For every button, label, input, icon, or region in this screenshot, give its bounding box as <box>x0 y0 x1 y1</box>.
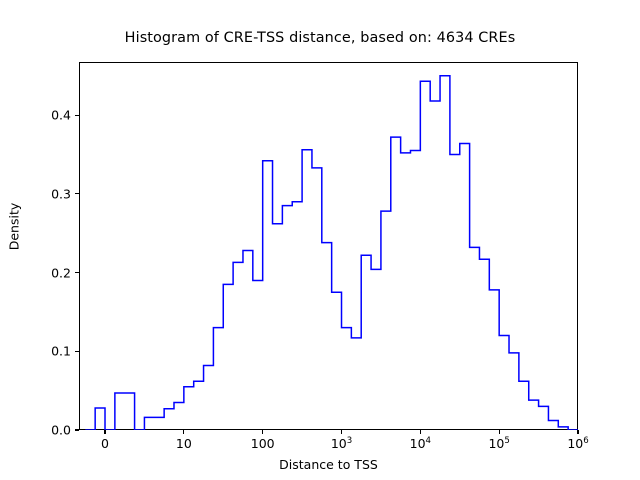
histogram-density-curve <box>85 76 578 430</box>
y-tick-label: 0.4 <box>51 108 71 123</box>
y-tick-label: 0.0 <box>51 423 71 438</box>
x-tick-label: 103 <box>331 436 352 451</box>
y-tick-label: 0.3 <box>51 186 71 201</box>
x-tick-mark <box>499 430 500 434</box>
x-tick-label: 105 <box>488 436 509 451</box>
x-tick-label: 100 <box>251 436 275 451</box>
x-tick-mark <box>262 430 263 434</box>
x-tick-mark <box>183 430 184 434</box>
histogram-figure: Histogram of CRE-TSS distance, based on:… <box>0 0 640 480</box>
x-axis-tick-labels: 010100103104105106 <box>79 436 578 458</box>
y-tick-label: 0.2 <box>51 265 71 280</box>
y-tick-label: 0.1 <box>51 344 71 359</box>
x-axis-label: Distance to TSS <box>79 457 578 472</box>
histogram-step-line <box>79 62 578 430</box>
x-tick-label: 10 <box>176 436 192 451</box>
x-tick-label: 104 <box>410 436 431 451</box>
page-title: Histogram of CRE-TSS distance, based on:… <box>0 30 640 46</box>
x-axis-tick-marks <box>79 430 578 434</box>
x-tick-mark <box>341 430 342 434</box>
plot-area <box>79 62 578 430</box>
x-tick-mark <box>577 430 578 434</box>
y-axis-tick-labels: 0.00.10.20.30.4 <box>0 62 71 430</box>
x-tick-mark <box>420 430 421 434</box>
x-tick-mark <box>104 430 105 434</box>
x-tick-label: 0 <box>101 436 109 451</box>
x-tick-label: 106 <box>567 436 588 451</box>
